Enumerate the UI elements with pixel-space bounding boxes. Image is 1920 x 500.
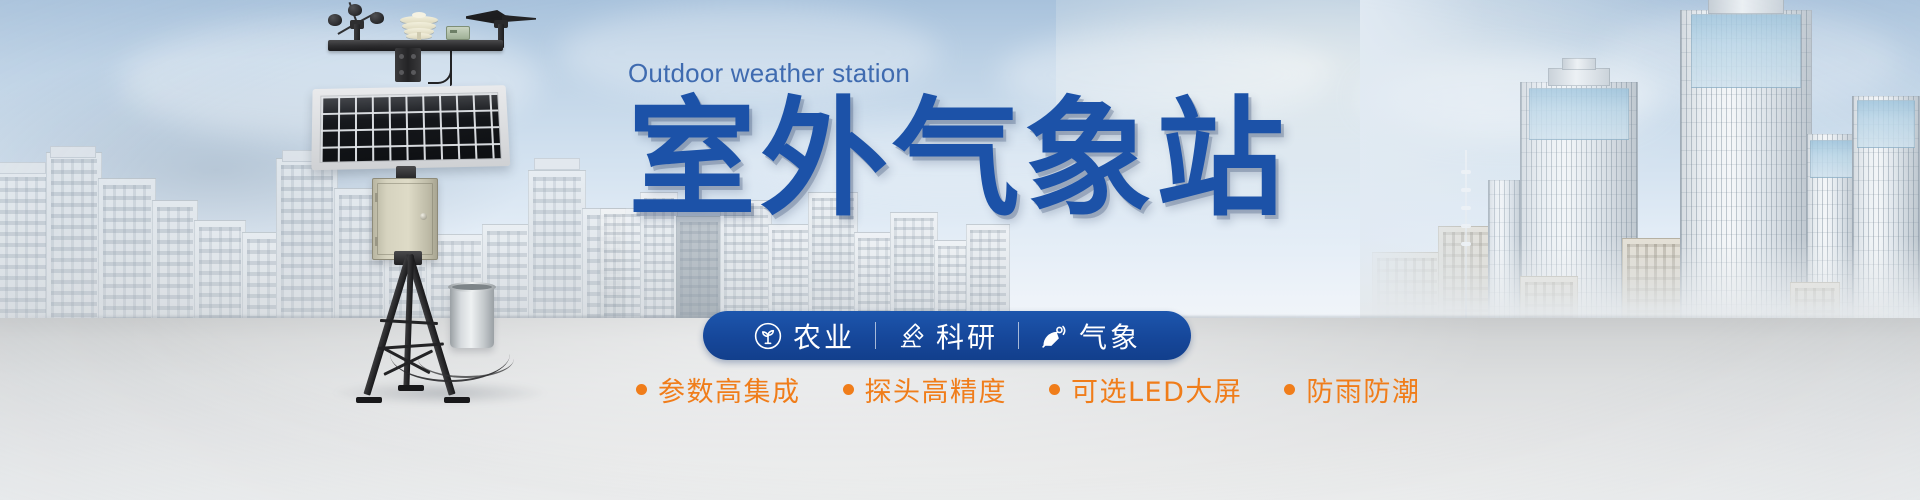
- wind-vane-icon: [472, 6, 538, 44]
- plant-sprout-icon: [753, 321, 783, 351]
- bullet-dot-icon: [843, 384, 854, 395]
- feature-item: 参数高集成: [636, 370, 843, 409]
- sensor-cable: [428, 62, 452, 84]
- bullet-dot-icon: [1284, 384, 1295, 395]
- bullet-dot-icon: [636, 384, 647, 395]
- page-title: 室外气象站: [628, 95, 1388, 226]
- tripod-stand: [332, 255, 482, 405]
- category-label: 农业: [793, 316, 855, 356]
- category-label: 气象: [1079, 316, 1141, 356]
- feature-list: 参数高集成 探头高精度 可选LED大屏 防雨防潮: [636, 370, 1462, 409]
- weather-station-product: [300, 0, 560, 420]
- feature-label: 可选LED大屏: [1071, 370, 1242, 409]
- feature-item: 探头高精度: [843, 370, 1050, 409]
- category-label: 科研: [936, 316, 998, 356]
- feature-item: 可选LED大屏: [1049, 370, 1284, 409]
- radiation-shield-icon: [400, 10, 438, 44]
- bullet-dot-icon: [1049, 384, 1060, 395]
- category-pill: 农业 科研: [703, 311, 1191, 360]
- feature-label: 探头高精度: [865, 370, 1008, 409]
- anemometer-icon: [326, 8, 388, 42]
- feature-label: 参数高集成: [658, 370, 801, 409]
- control-cabinet: [372, 178, 438, 260]
- headline-block: Outdoor weather station 室外气象站: [628, 58, 1388, 226]
- feature-label: 防雨防潮: [1306, 370, 1420, 409]
- satellite-dish-icon: [1039, 321, 1069, 351]
- sensor-box-icon: [446, 26, 470, 40]
- skyline-right: [1360, 0, 1920, 330]
- category-item-agriculture[interactable]: 农业: [733, 316, 875, 356]
- solar-panel: [311, 85, 510, 170]
- category-item-research[interactable]: 科研: [876, 316, 1018, 356]
- mast-mount-plate: [395, 48, 421, 82]
- feature-item: 防雨防潮: [1284, 370, 1462, 409]
- category-item-meteorology[interactable]: 气象: [1019, 316, 1161, 356]
- microscope-icon: [896, 321, 926, 351]
- promo-banner: Outdoor weather station 室外气象站 农业: [0, 0, 1920, 500]
